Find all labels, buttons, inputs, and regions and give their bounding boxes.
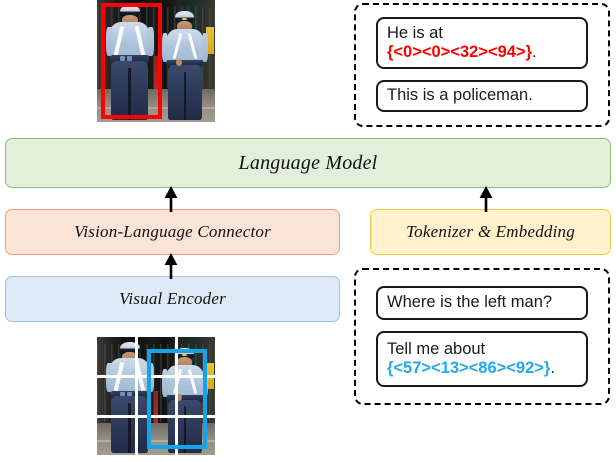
red-bounding-box [101,3,162,119]
block-tokenizer-embedding[interactable]: Tokenizer & Embedding [370,209,611,255]
block-vision-language-connector-label: Vision-Language Connector [74,222,271,242]
arrow-encoder-to-connector [161,253,181,279]
input-bubble-question-tell[interactable]: Tell me about {<57><13><86><92>}. [376,331,588,387]
input-question-tell-prefix: Tell me about [387,340,578,359]
output-location-tokens: {<0><0><32><94>} [387,43,532,61]
officer-legs [168,65,203,119]
officer-arm [162,33,169,62]
two-policemen-photo-with-red-box [97,0,215,122]
output-location-tokens-line: {<0><0><32><94>}. [387,43,578,62]
output-caption-text: This is a policeman. [387,86,578,105]
arrow-connector-to-language-model [161,186,181,212]
blue-bounding-box [147,349,207,449]
input-question-where-text: Where is the left man? [387,293,578,312]
officer-leg-split [184,72,187,120]
diagram-canvas: He is at {<0><0><32><94>}. This is a pol… [0,0,616,462]
block-language-model-label: Language Model [239,152,378,175]
block-visual-encoder[interactable]: Visual Encoder [5,276,340,322]
two-policemen-photo-with-blue-box-and-grid [97,337,215,455]
output-bubble-caption: This is a policeman. [376,80,588,112]
officer-arm [202,33,209,62]
output-location-prefix: He is at [387,24,578,43]
officer-cap-badge [182,18,187,20]
input-question-tell-tokens-line: {<57><13><86><92>}. [387,359,578,378]
officer-right [162,11,209,120]
input-bubble-question-where[interactable]: Where is the left man? [376,286,588,320]
block-language-model[interactable]: Language Model [5,138,611,188]
officer-leg-split [128,403,131,453]
block-visual-encoder-label: Visual Encoder [119,289,226,309]
input-question-tell-tokens: {<57><13><86><92>} [387,359,550,377]
output-location-period: . [532,43,537,61]
input-question-tell-period: . [550,359,555,377]
arrow-tokenizer-to-language-model [476,186,496,212]
block-vision-language-connector[interactable]: Vision-Language Connector [5,209,340,255]
block-tokenizer-embedding-label: Tokenizer & Embedding [406,222,575,242]
output-bubble-location: He is at {<0><0><32><94>}. [376,17,588,69]
officer-arm [106,363,113,392]
officer-legs [111,396,148,453]
